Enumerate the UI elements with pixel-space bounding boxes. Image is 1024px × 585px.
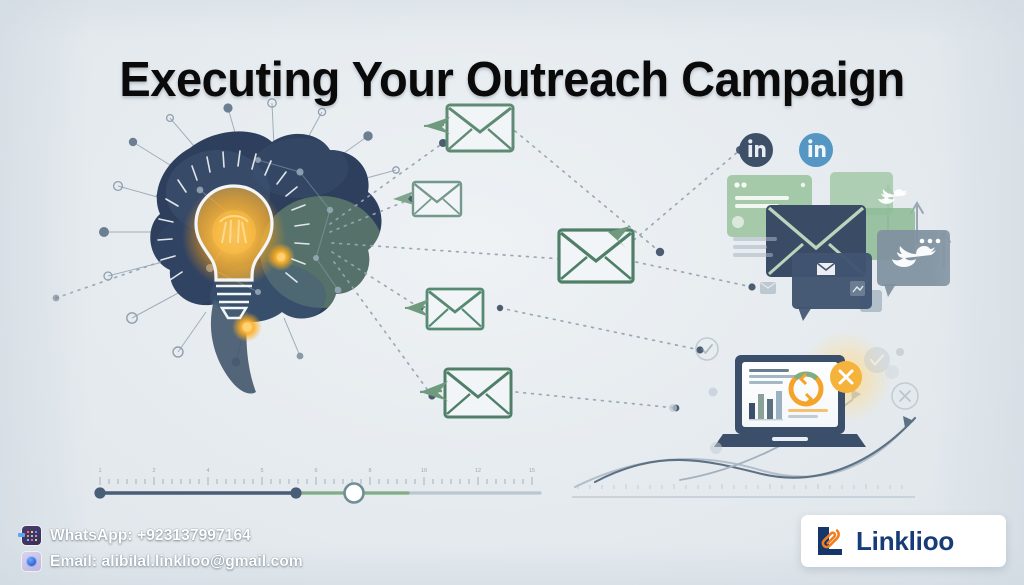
envelope-1 [424, 105, 513, 151]
contact-email-text: Email: alibilal.linklioo@gmail.com [50, 553, 303, 571]
close-circle-icon [892, 383, 918, 409]
page-title-wrap: Executing Your Outreach Campaign [0, 52, 1024, 108]
svg-text:5: 5 [260, 468, 263, 474]
contact-whatsapp-text: WhatsApp: +923137997164 [50, 527, 251, 545]
contact-email[interactable]: Email: alibilal.linklioo@gmail.com [22, 552, 303, 571]
connector-nodes [53, 139, 756, 411]
brand-name: Linklioo [856, 528, 954, 554]
timeline-start-dot [94, 487, 105, 498]
linkedin-badge-dark [739, 133, 773, 167]
svg-text:12: 12 [475, 468, 481, 474]
secondary-ruler-line [572, 484, 915, 497]
small-mail-blob [760, 282, 776, 294]
timeline-mid-dot [290, 487, 301, 498]
envelope-4 [405, 289, 483, 329]
envelope-5 [420, 369, 511, 417]
svg-text:15: 15 [529, 468, 535, 474]
brand-logo-card[interactable]: Linklioo [801, 515, 1006, 567]
svg-text:8: 8 [368, 468, 371, 474]
envelope-2 [393, 182, 461, 216]
social-bubble-navy [792, 253, 872, 321]
svg-text:6: 6 [314, 468, 317, 474]
ruler-tick-labels: 12 45 68 1012 15 [98, 468, 535, 474]
close-x-badge [830, 361, 862, 393]
blur-dot [885, 365, 899, 379]
linklioo-paperclip-logo [815, 525, 845, 557]
svg-text:4: 4 [206, 468, 209, 474]
dotted-connector-lines [56, 131, 752, 408]
poster-canvas: 12 45 68 1012 15 [0, 0, 1024, 585]
envelope-3 [559, 226, 633, 282]
laptop-analytics-dashboard [714, 331, 892, 447]
timeline-handle [345, 484, 364, 503]
campaign-timeline-ruler: 12 45 68 1012 15 [94, 468, 540, 503]
svg-text:1: 1 [98, 468, 101, 474]
social-media-cluster [727, 133, 950, 321]
contact-whatsapp[interactable]: WhatsApp: +923137997164 [22, 526, 303, 545]
page-title: Executing Your Outreach Campaign [119, 52, 904, 108]
svg-text:2: 2 [152, 468, 155, 474]
svg-text:10: 10 [421, 468, 427, 474]
email-app-icon [22, 552, 41, 571]
whatsapp-keypad-icon [22, 526, 41, 545]
linkedin-badge-blue [799, 133, 833, 167]
twitter-bubble-slate [877, 230, 950, 297]
brain-silhouette [150, 131, 384, 393]
contact-block: WhatsApp: +923137997164 Email: alibilal.… [22, 526, 303, 571]
